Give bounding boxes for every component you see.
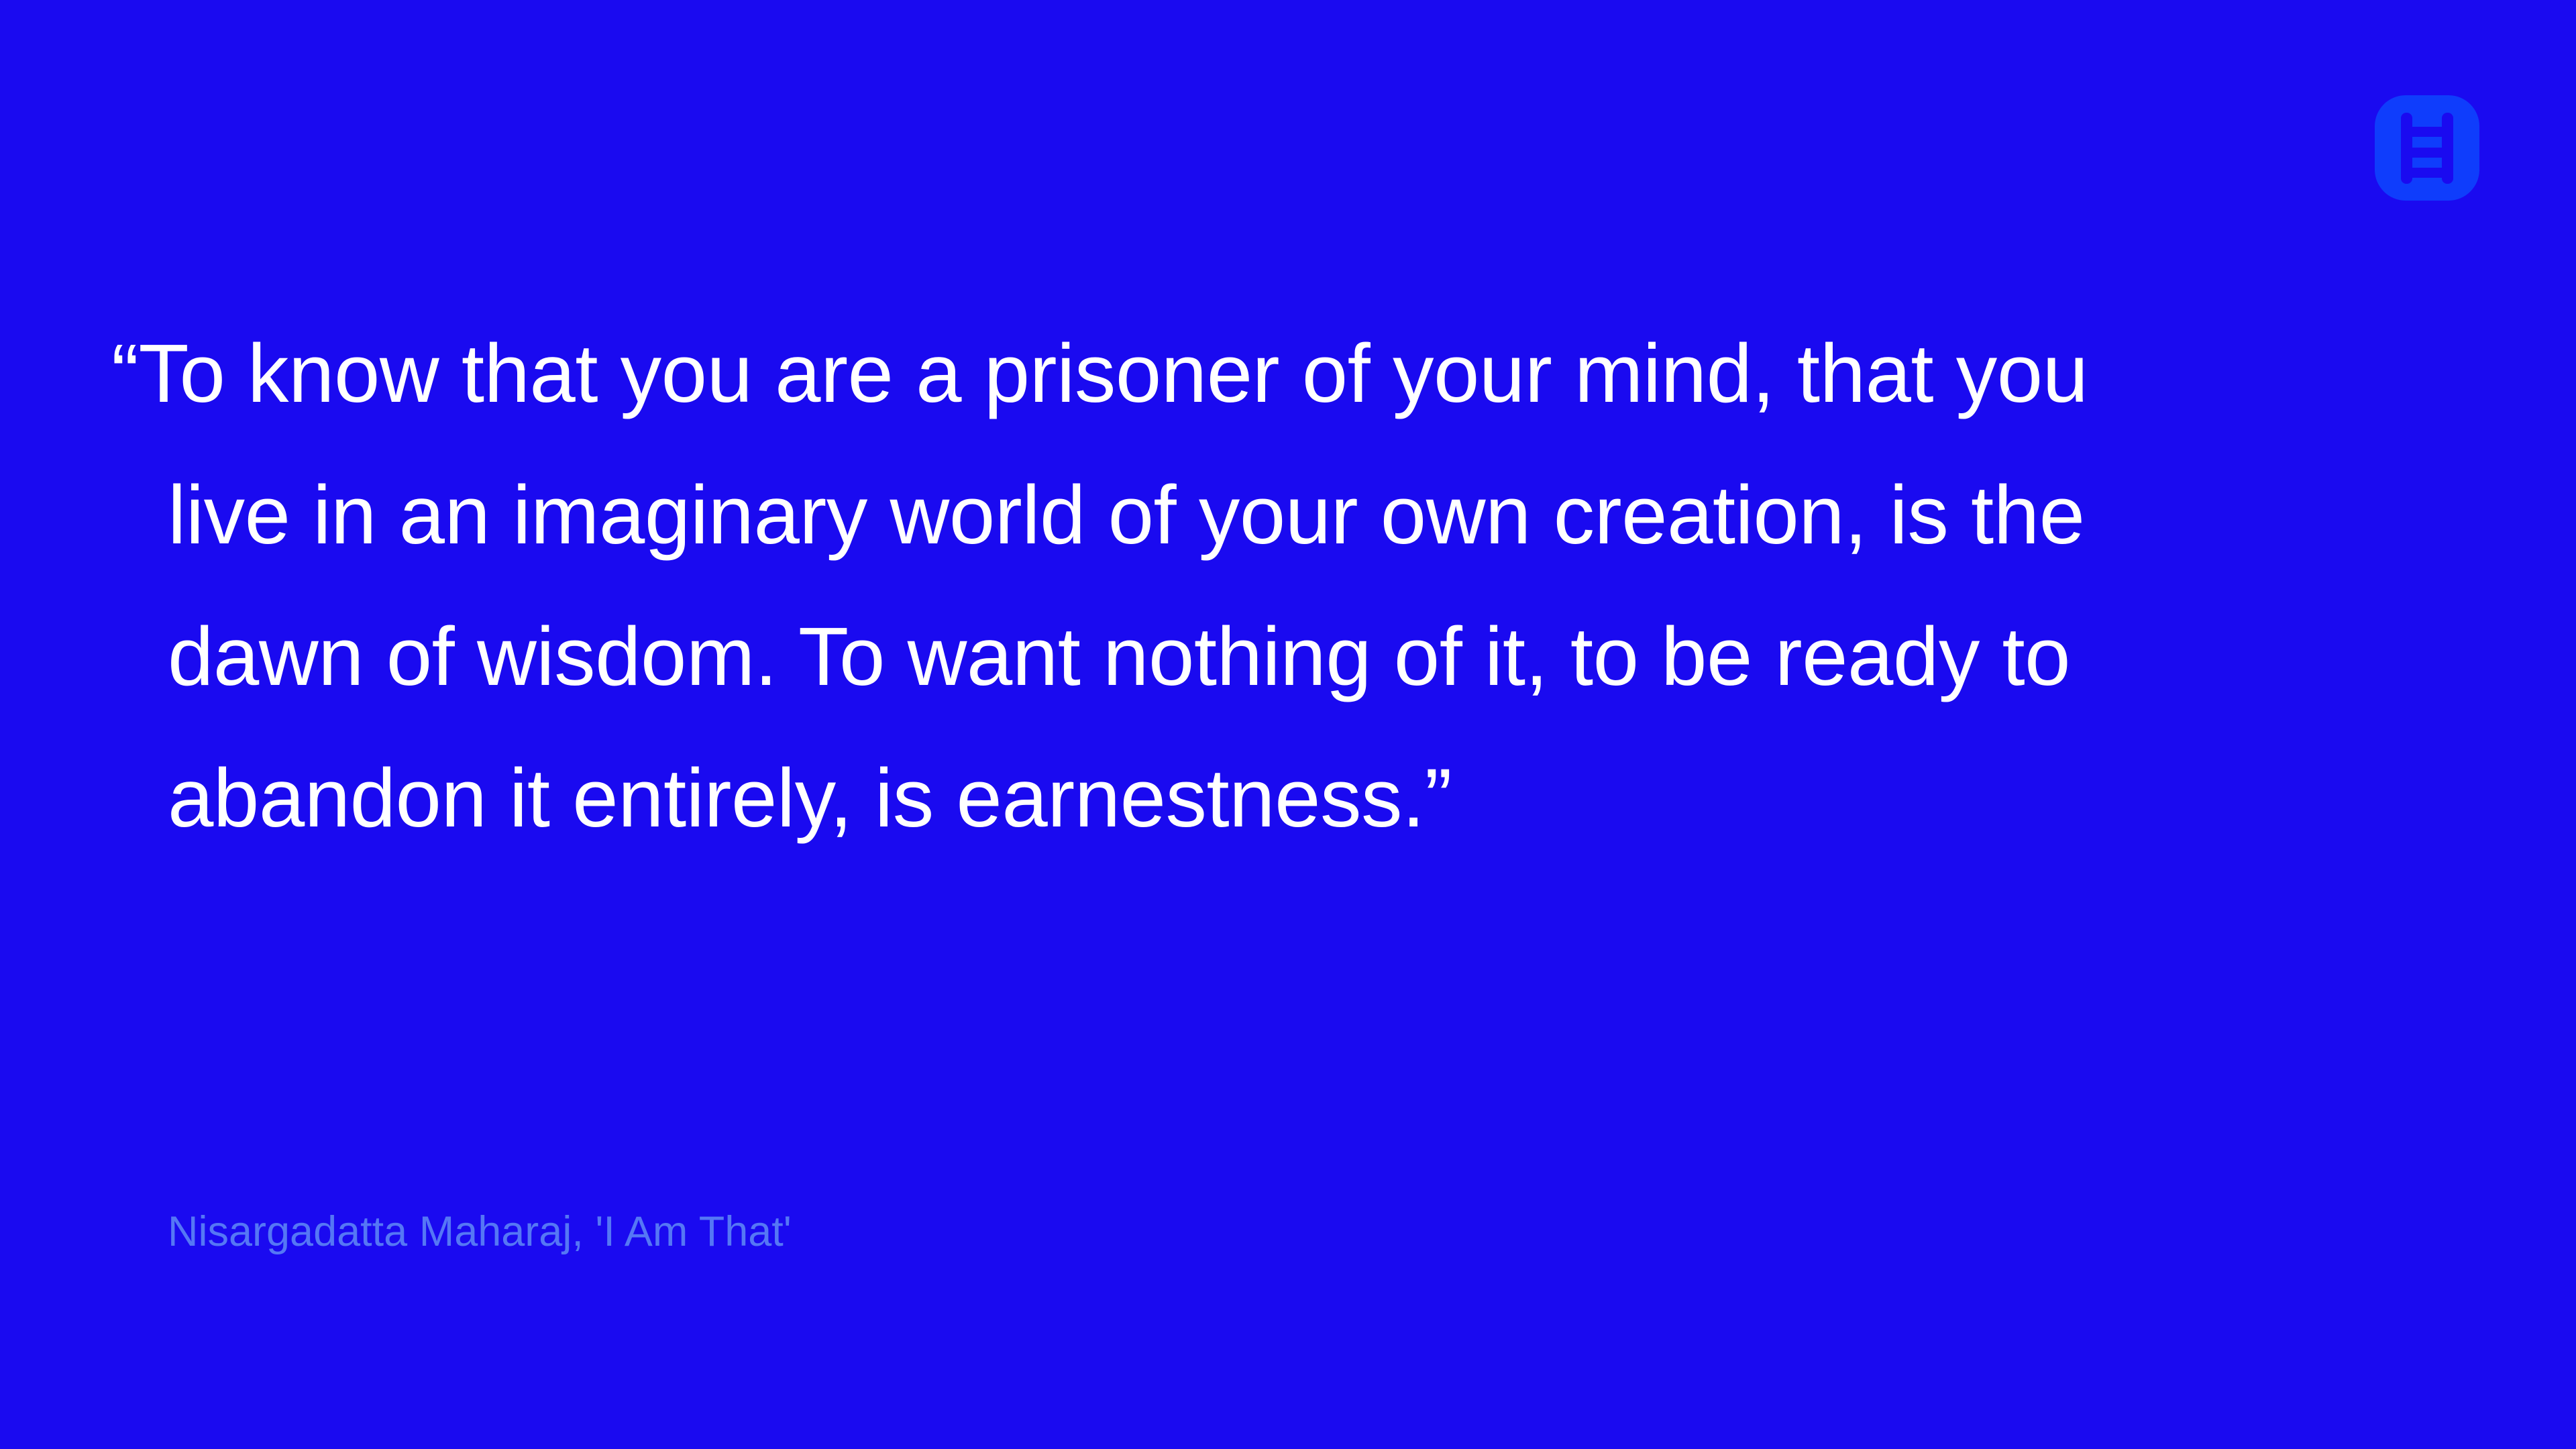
brand-badge[interactable] xyxy=(2375,95,2479,201)
quote-body: “To know that you are a prisoner of your… xyxy=(111,303,2157,869)
quote-attribution: Nisargadatta Maharaj, 'I Am That' xyxy=(168,1205,792,1258)
ladder-icon xyxy=(2398,113,2456,184)
quote-card: “To know that you are a prisoner of your… xyxy=(0,0,2576,1449)
